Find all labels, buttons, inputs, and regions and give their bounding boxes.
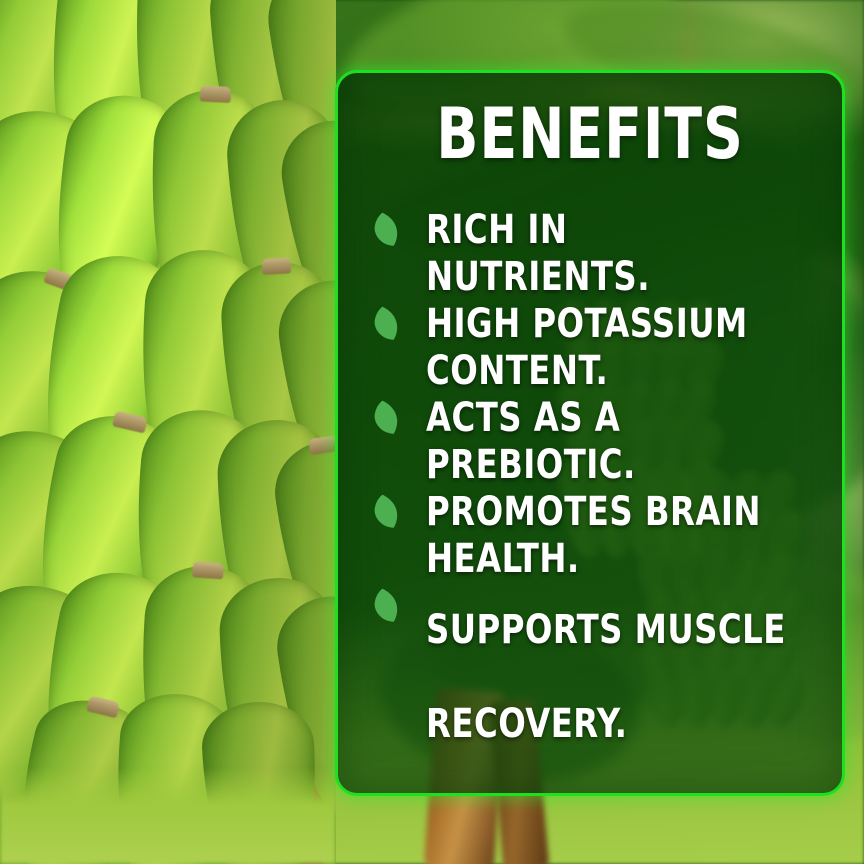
benefit-item: PROMOTES BRAIN HEALTH. <box>360 489 826 583</box>
leaf-icon <box>372 587 402 627</box>
benefit-item: SUPPORTS MUSCLE RECOVERY. <box>360 583 826 771</box>
benefit-item: HIGH POTASSIUM CONTENT. <box>360 301 826 395</box>
benefit-item: RICH IN NUTRIENTS. <box>360 207 826 301</box>
benefits-panel: BENEFITS RICH IN NUTRIENTS. HIGH POTASSI… <box>335 70 845 796</box>
benefit-item-label: HIGH POTASSIUM CONTENT. <box>426 301 786 395</box>
benefit-item: ACTS AS A PREBIOTIC. <box>360 395 826 489</box>
leaf-icon <box>372 399 402 439</box>
foreground-grass <box>0 768 336 864</box>
benefit-item-label: PROMOTES BRAIN HEALTH. <box>426 489 786 583</box>
foreground-banana-bunch-photo <box>0 0 336 864</box>
benefits-list: RICH IN NUTRIENTS. HIGH POTASSIUM CONTEN… <box>360 207 826 771</box>
page-title: BENEFITS <box>368 99 812 169</box>
leaf-icon <box>372 305 402 345</box>
benefit-item-label: RICH IN NUTRIENTS. <box>426 207 786 301</box>
infographic-canvas: BENEFITS RICH IN NUTRIENTS. HIGH POTASSI… <box>0 0 864 864</box>
benefit-item-label: SUPPORTS MUSCLE RECOVERY. <box>426 583 786 771</box>
leaf-icon <box>372 211 402 251</box>
leaf-icon <box>372 493 402 533</box>
benefit-item-label: ACTS AS A PREBIOTIC. <box>426 395 786 489</box>
